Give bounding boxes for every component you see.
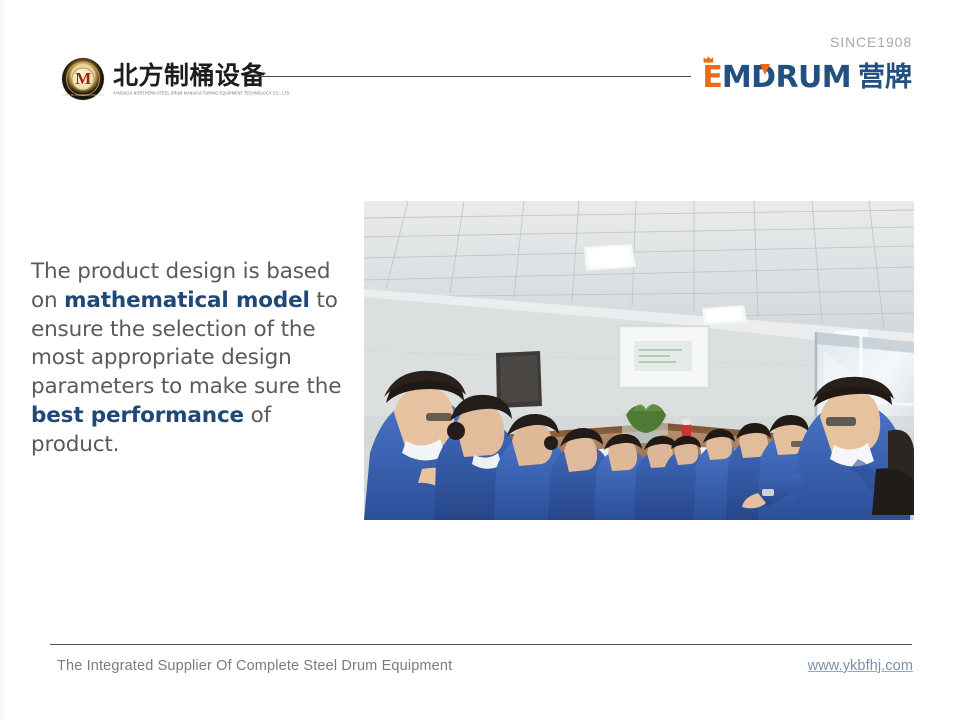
footer-website-link[interactable]: www.ykbfhj.com	[808, 657, 913, 675]
seal-micro-text: YANGKOU NORTHERN STEEL DRUM EQUIPMENT	[62, 94, 104, 97]
emdrum-letters-text: MDRUM	[722, 60, 851, 95]
footer-divider-rule	[50, 644, 912, 645]
seal-letter: M	[75, 70, 91, 87]
since-label: SINCE1908	[702, 34, 912, 50]
crown-icon	[703, 56, 719, 63]
emdrum-letters-mdrum: MDRUM	[722, 56, 851, 93]
conference-room-photo	[364, 201, 914, 520]
company-logo-left: M YANGKOU NORTHERN STEEL DRUM EQUIPMENT …	[62, 58, 290, 100]
company-seal-icon: M YANGKOU NORTHERN STEEL DRUM EQUIPMENT	[62, 58, 104, 100]
main-paragraph: The product design is based on mathemati…	[31, 258, 361, 460]
emdrum-logo-right: SINCE1908 E MDRUM 营牌	[702, 34, 912, 93]
slide-header: M YANGKOU NORTHERN STEEL DRUM EQUIPMENT …	[0, 0, 960, 120]
orange-wedge-accent-icon	[760, 64, 770, 75]
emdrum-initial-e-letter: E	[702, 60, 722, 95]
emdrum-brand-cn: 营牌	[858, 56, 912, 93]
emdrum-initial-e: E	[702, 56, 722, 93]
footer-tagline: The Integrated Supplier Of Complete Stee…	[57, 657, 452, 675]
photo-illustration	[364, 201, 914, 520]
paragraph-highlight: mathematical model	[64, 288, 310, 313]
header-divider-rule	[255, 76, 691, 77]
paragraph-highlight: best performance	[31, 403, 244, 428]
emdrum-wordmark: E MDRUM 营牌	[702, 56, 912, 93]
company-name-en: YANGKOU NORTHERN STEEL DRUM MANUFACTURIN…	[113, 91, 290, 97]
company-name-block: 北方制桶设备 YANGKOU NORTHERN STEEL DRUM MANUF…	[113, 63, 290, 96]
